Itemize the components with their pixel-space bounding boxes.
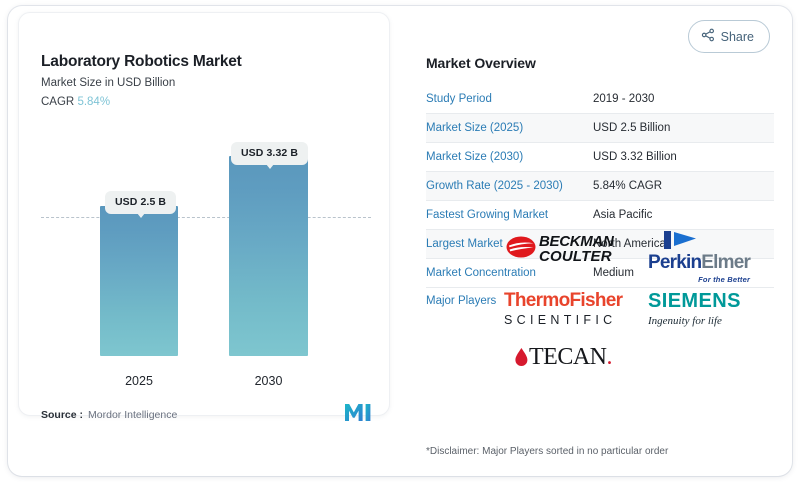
source-label: Source : — [41, 409, 83, 421]
page-title: Market Overview — [426, 55, 536, 71]
perkinelmer-part2: Elmer — [701, 252, 750, 273]
row-value: 2019 - 2030 — [593, 93, 654, 105]
infographic-card: Laboratory Robotics Market Market Size i… — [0, 0, 800, 482]
tecan-wordmark: TECAN — [529, 344, 607, 370]
major-players-logos: BECKMAN COULTER PerkinElmer For the Bett… — [496, 234, 774, 384]
source-row: Source : Mordor Intelligence — [41, 404, 371, 426]
row-value: Asia Pacific — [593, 209, 652, 221]
share-button-label: Share — [721, 30, 754, 44]
thermofisher-line2: SCIENTIFIC — [504, 313, 622, 327]
bar-2030[interactable] — [229, 156, 308, 356]
bar-chart-plot: USD 2.5 B USD 3.32 B 2025 2030 — [19, 13, 391, 417]
table-row: Market Size (2030) USD 3.32 Billion — [426, 143, 774, 172]
overview-panel: Share Market Overview Study Period 2019 … — [400, 12, 774, 462]
x-tick-2025: 2025 — [100, 374, 178, 388]
perkinelmer-tagline: For the Better — [648, 275, 750, 284]
logo-tecan: TECAN. — [514, 344, 612, 371]
thermofisher-line1: ThermoFisher — [504, 290, 622, 312]
logo-siemens: SIEMENS Ingenuity for life — [648, 290, 741, 327]
source-value: Mordor Intelligence — [88, 409, 177, 421]
beckman-mark-icon — [506, 234, 536, 265]
mordor-intelligence-mi-icon — [345, 404, 371, 426]
row-key: Market Size (2025) — [426, 122, 593, 134]
logo-perkinelmer: PerkinElmer For the Better — [648, 230, 750, 284]
share-button[interactable]: Share — [688, 20, 770, 53]
siemens-wordmark: SIEMENS — [648, 290, 741, 313]
beckman-line2: COULTER — [539, 250, 614, 265]
table-row: Market Size (2025) USD 2.5 Billion — [426, 114, 774, 143]
row-value: USD 3.32 Billion — [593, 151, 677, 163]
tecan-drop-icon — [514, 347, 529, 368]
row-key: Study Period — [426, 93, 593, 105]
gridline-2-5 — [41, 217, 371, 218]
disclaimer-text: *Disclaimer: Major Players sorted in no … — [426, 446, 668, 457]
perkinelmer-part1: Perkin — [648, 252, 701, 273]
siemens-tagline: Ingenuity for life — [648, 315, 741, 327]
tecan-dot: . — [607, 344, 613, 370]
table-row: Fastest Growing Market Asia Pacific — [426, 201, 774, 230]
row-value: 5.84% CAGR — [593, 180, 662, 192]
share-nodes-icon — [701, 28, 715, 45]
row-key: Fastest Growing Market — [426, 209, 593, 221]
row-value: USD 2.5 Billion — [593, 122, 670, 134]
logo-thermo-fisher-scientific: ThermoFisher SCIENTIFIC — [504, 290, 622, 327]
bar-label-2030: USD 3.32 B — [231, 142, 308, 165]
bar-label-2025: USD 2.5 B — [105, 191, 176, 214]
row-key: Market Size (2030) — [426, 151, 593, 163]
x-tick-2030: 2030 — [229, 374, 308, 388]
table-row: Growth Rate (2025 - 2030) 5.84% CAGR — [426, 172, 774, 201]
row-key: Growth Rate (2025 - 2030) — [426, 180, 593, 192]
chart-panel: Laboratory Robotics Market Market Size i… — [18, 12, 390, 416]
table-row: Study Period 2019 - 2030 — [426, 85, 774, 114]
logo-beckman-coulter: BECKMAN COULTER — [506, 234, 614, 265]
perkinelmer-arrow-icon — [648, 230, 750, 252]
bar-2025[interactable] — [100, 206, 178, 356]
